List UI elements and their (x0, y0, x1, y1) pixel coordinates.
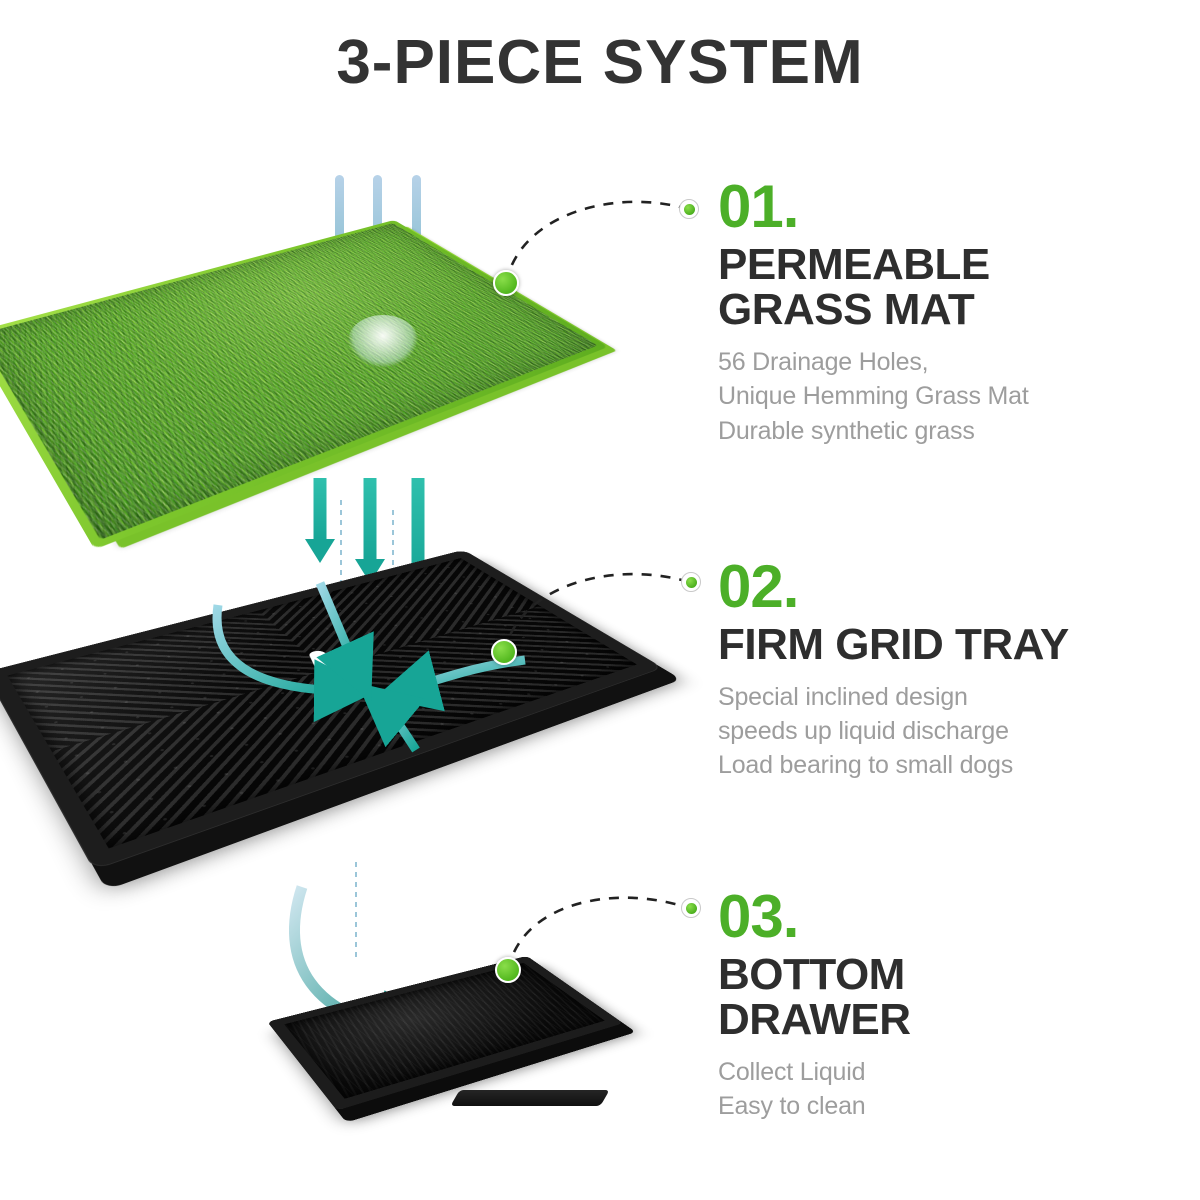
callout-source-dot-2[interactable] (491, 639, 517, 665)
feature-description-3: Collect Liquid Easy to clean (718, 1055, 1188, 1124)
feature-block-1: 01. PERMEABLE GRASS MAT 56 Drainage Hole… (718, 178, 1188, 448)
feature-number-1: 01. (718, 178, 1188, 236)
feature-block-3: 03. BOTTOM DRAWER Collect Liquid Easy to… (718, 888, 1188, 1124)
feature-title-1: PERMEABLE GRASS MAT (718, 242, 1188, 333)
callout-end-dot-3[interactable] (681, 898, 701, 918)
drawer-handle-lip (450, 1090, 609, 1106)
feature-desc-line: speeds up liquid discharge (718, 714, 1188, 748)
feature-desc-line: Easy to clean (718, 1089, 1188, 1123)
feature-desc-line: Load bearing to small dogs (718, 748, 1188, 782)
bottom-drawer-illustration (280, 930, 670, 1145)
callout-source-dot-3[interactable] (495, 957, 521, 983)
feature-number-3: 03. (718, 888, 1188, 946)
liquid-flow-arrows (20, 495, 660, 885)
grid-tray-illustration (20, 495, 660, 885)
feature-title-line: GRASS MAT (718, 287, 1188, 332)
callout-source-dot-1[interactable] (493, 270, 519, 296)
feature-title-2: FIRM GRID TRAY (718, 622, 1188, 667)
feature-desc-line: Collect Liquid (718, 1055, 1188, 1089)
feature-title-line: PERMEABLE (718, 242, 1188, 287)
feature-description-1: 56 Drainage Holes, Unique Hemming Grass … (718, 345, 1188, 448)
feature-title-3: BOTTOM DRAWER (718, 952, 1188, 1043)
callout-end-dot-1[interactable] (679, 199, 699, 219)
callout-end-dot-2[interactable] (681, 572, 701, 592)
water-splash-icon (348, 315, 418, 367)
feature-desc-line: 56 Drainage Holes, (718, 345, 1188, 379)
feature-number-2: 02. (718, 558, 1188, 616)
feature-desc-line: Special inclined design (718, 680, 1188, 714)
feature-description-2: Special inclined design speeds up liquid… (718, 680, 1188, 783)
feature-desc-line: Unique Hemming Grass Mat (718, 379, 1188, 413)
feature-title-line: DRAWER (718, 997, 1188, 1042)
feature-title-line: BOTTOM (718, 952, 1188, 997)
grass-mat-illustration (30, 175, 540, 535)
feature-desc-line: Durable synthetic grass (718, 414, 1188, 448)
feature-block-2: 02. FIRM GRID TRAY Special inclined desi… (718, 558, 1188, 783)
feature-title-line: FIRM GRID TRAY (718, 622, 1188, 667)
